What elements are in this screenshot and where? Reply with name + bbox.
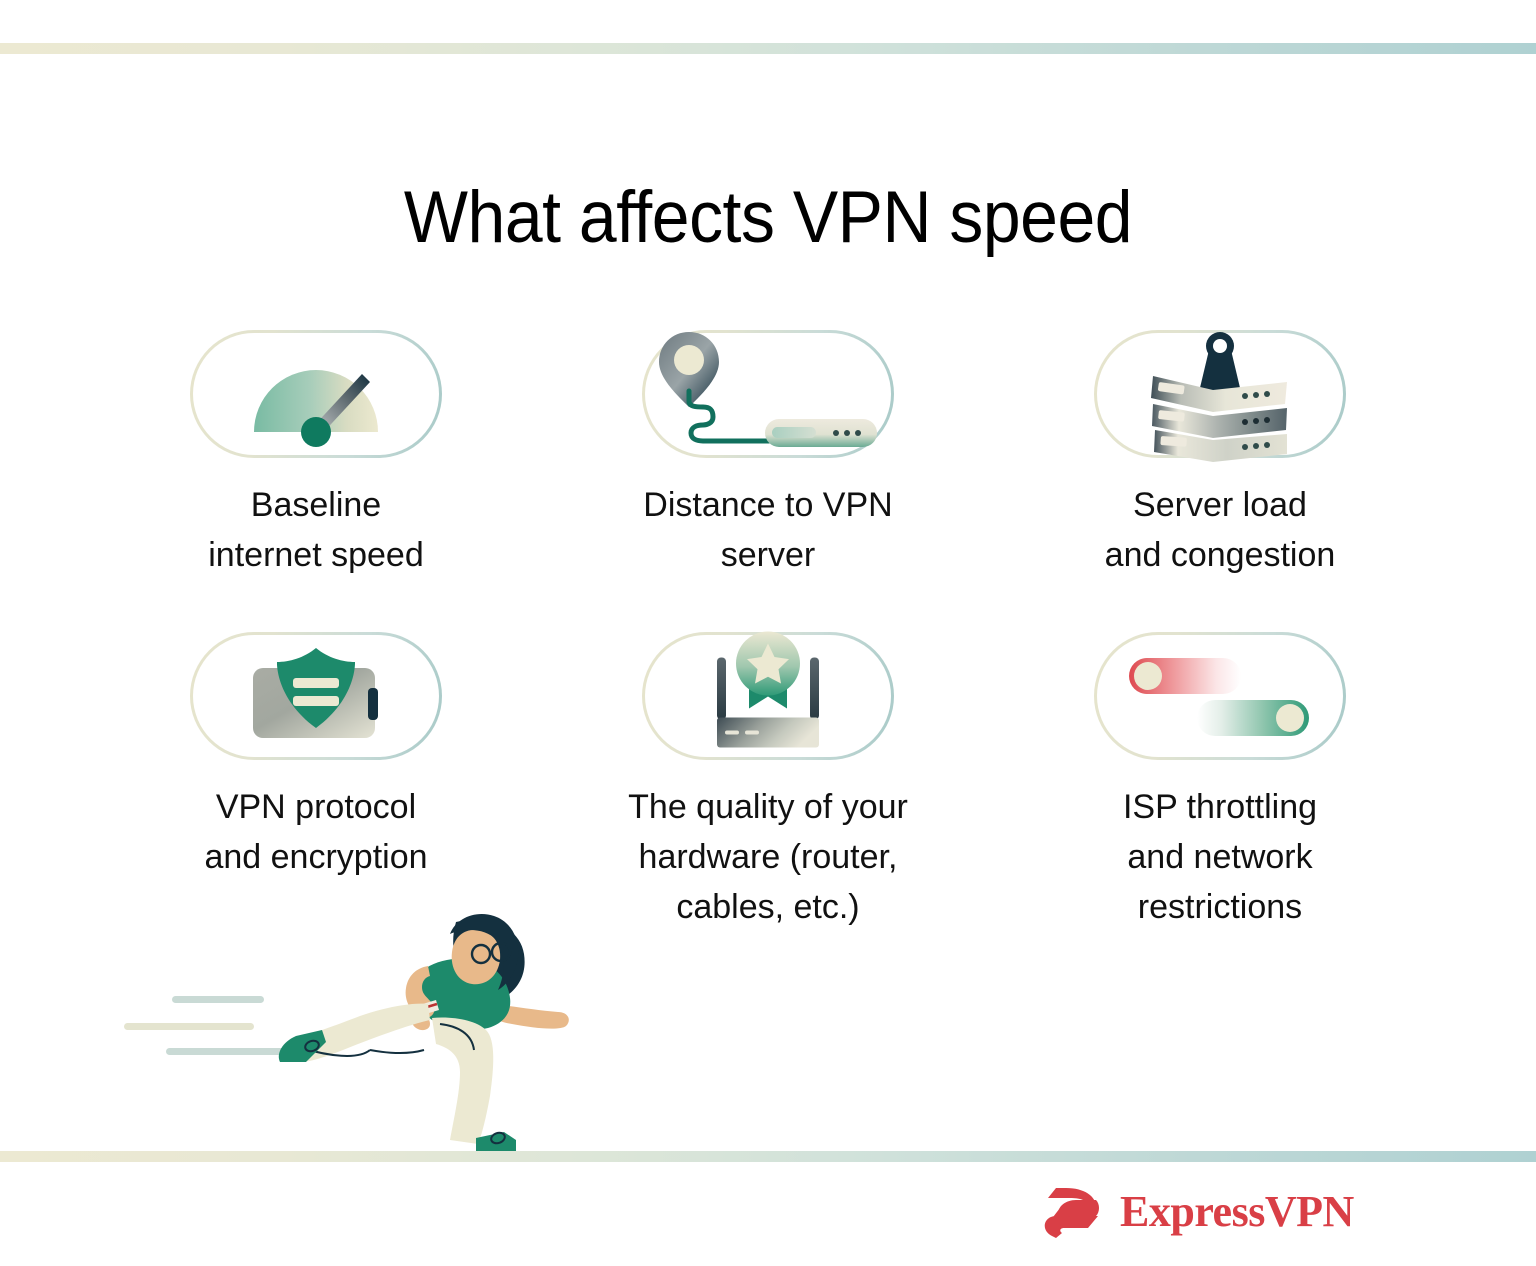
weighted-servers-icon bbox=[1125, 324, 1315, 464]
page-title: What affects VPN speed bbox=[54, 175, 1482, 261]
location-pin-to-server-icon bbox=[653, 329, 883, 459]
factor-label: Server load and congestion bbox=[1105, 480, 1336, 580]
router-quality-badge-icon bbox=[673, 624, 863, 769]
speedometer-icon bbox=[236, 344, 396, 444]
factor-card-distance-to-vpn-server: Distance to VPN server bbox=[542, 330, 994, 580]
factor-card-baseline-internet-speed: Baseline internet speed bbox=[90, 330, 542, 580]
icon-pill-server-load bbox=[1094, 330, 1346, 458]
factor-card-vpn-protocol: VPN protocol and encryption bbox=[90, 632, 542, 932]
factor-label: The quality of your hardware (router, ca… bbox=[628, 782, 908, 932]
factor-label: VPN protocol and encryption bbox=[204, 782, 427, 882]
brand-wordmark: ExpressVPN bbox=[1120, 1190, 1354, 1234]
factor-label: ISP throttling and network restrictions bbox=[1123, 782, 1317, 932]
expressvpn-logo: ExpressVPN bbox=[1042, 1186, 1354, 1238]
runner-svg bbox=[120, 900, 590, 1155]
factor-label: Distance to VPN server bbox=[643, 480, 892, 580]
toggle-switches-icon bbox=[1125, 646, 1315, 746]
icon-pill-vpn-protocol bbox=[190, 632, 442, 760]
running-woman-illustration bbox=[120, 900, 590, 1155]
factor-card-isp-throttling: ISP throttling and network restrictions bbox=[994, 632, 1446, 932]
factor-label: Baseline internet speed bbox=[208, 480, 424, 580]
expressvpn-e-logo bbox=[1042, 1186, 1106, 1238]
speed-lines-icon bbox=[124, 996, 294, 1055]
icon-pill-baseline-internet-speed bbox=[190, 330, 442, 458]
factor-card-server-load: Server load and congestion bbox=[994, 330, 1446, 580]
factor-card-hardware-quality: The quality of your hardware (router, ca… bbox=[542, 632, 994, 932]
icon-pill-isp-throttling bbox=[1094, 632, 1346, 760]
icon-pill-distance-to-vpn-server bbox=[642, 330, 894, 458]
shield-on-device-icon bbox=[231, 636, 401, 756]
bottom-gradient-rule bbox=[0, 1151, 1536, 1162]
top-gradient-rule bbox=[0, 43, 1536, 54]
icon-pill-hardware-quality bbox=[642, 632, 894, 760]
factors-grid: Baseline internet speed bbox=[90, 330, 1446, 932]
